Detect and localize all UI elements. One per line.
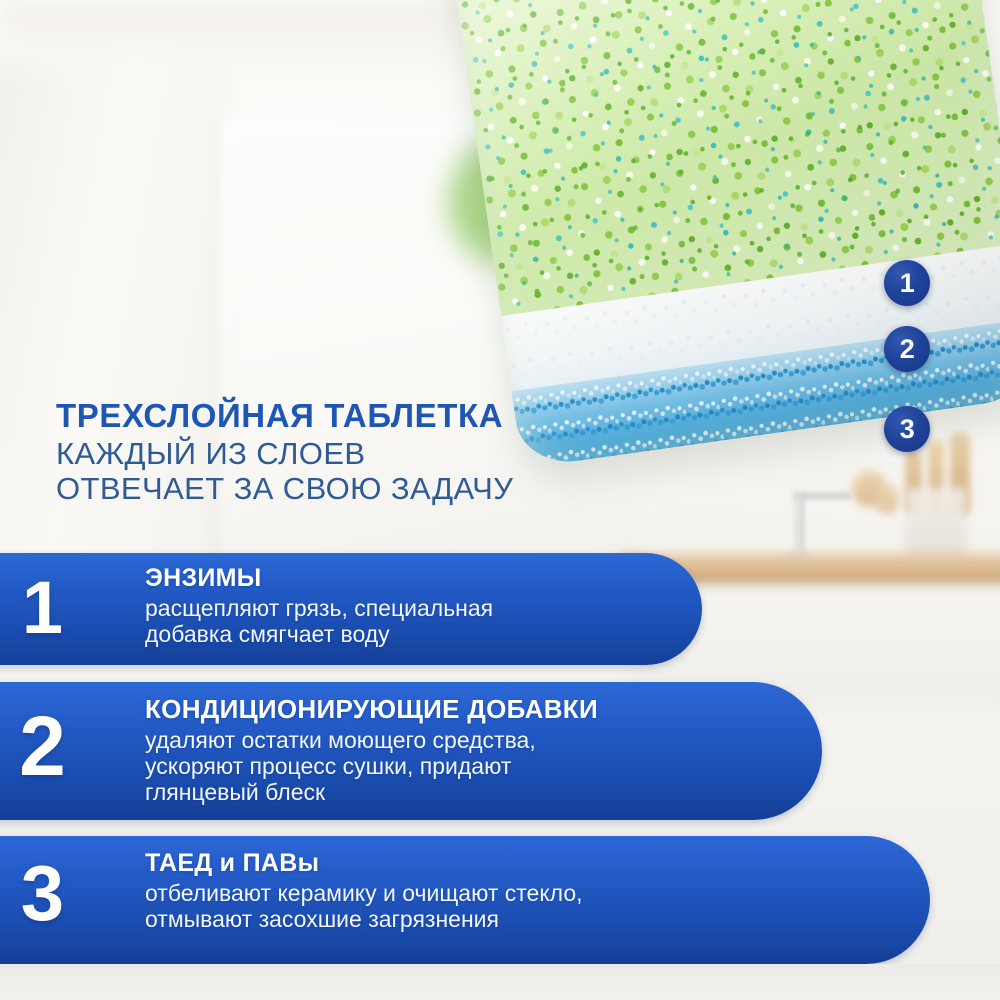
tablet-layer-badge-2: 2	[884, 326, 930, 372]
feature-card-1-description: расщепляют грязь, специальная добавка см…	[145, 595, 676, 647]
tablet-layer-badge-3: 3	[884, 406, 930, 452]
feature-card-2-title: КОНДИЦИОНИРУЮЩИЕ ДОБАВКИ	[145, 696, 796, 724]
feature-card-3-desc-line-1: отбеливают керамику и очищают стекло,	[145, 880, 904, 906]
feature-card-1-desc-line-2: добавка смягчает воду	[145, 621, 676, 647]
feature-card-3-title: ТАЕД и ПАВы	[145, 850, 904, 877]
feature-card-1-number: 1	[0, 571, 145, 645]
utensil-holder	[905, 488, 967, 560]
feature-card-2-body: КОНДИЦИОНИРУЮЩИЕ ДОБАВКИ удаляют остатки…	[145, 696, 822, 805]
feature-card-2-desc-line-1: удаляют остатки моющего средства,	[145, 727, 796, 753]
feature-card-3: 3 ТАЕД и ПАВы отбеливают керамику и очищ…	[0, 836, 930, 964]
feature-card-3-number: 3	[0, 854, 145, 932]
feature-card-1-desc-line-1: расщепляют грязь, специальная	[145, 595, 676, 621]
feature-card-2-description: удаляют остатки моющего средства, ускоря…	[145, 727, 796, 806]
feature-card-1: 1 ЭНЗИМЫ расщепляют грязь, специальная д…	[0, 553, 702, 665]
feature-card-2: 2 КОНДИЦИОНИРУЮЩИЕ ДОБАВКИ удаляют остат…	[0, 682, 822, 820]
headline-secondary-line2: ОТВЕЧАЕТ ЗА СВОЮ ЗАДАЧУ	[56, 471, 696, 506]
feature-card-3-body: ТАЕД и ПАВы отбеливают керамику и очищаю…	[145, 850, 930, 932]
infographic-canvas: 1 2 3 ТРЕХСЛОЙНАЯ ТАБЛЕТКА КАЖДЫЙ ИЗ СЛО…	[0, 0, 1000, 1000]
feature-card-3-description: отбеливают керамику и очищают стекло, от…	[145, 880, 904, 932]
feature-card-3-desc-line-2: отмывают засохшие загрязнения	[145, 906, 904, 932]
bottom-strip	[0, 964, 1000, 1000]
feature-card-2-number: 2	[0, 704, 145, 788]
headline-secondary-line1: КАЖДЫЙ ИЗ СЛОЕВ	[56, 436, 696, 471]
feature-card-1-body: ЭНЗИМЫ расщепляют грязь, специальная доб…	[145, 565, 702, 647]
tablet-layer-badge-1: 1	[884, 260, 930, 306]
feature-card-1-title: ЭНЗИМЫ	[145, 565, 676, 592]
headline-primary: ТРЕХСЛОЙНАЯ ТАБЛЕТКА	[56, 398, 696, 434]
feature-card-2-desc-line-3: глянцевый блеск	[145, 779, 796, 805]
feature-card-2-desc-line-2: ускоряют процесс сушки, придают	[145, 753, 796, 779]
wooden-utensil-ladle	[874, 484, 900, 514]
headline-block: ТРЕХСЛОЙНАЯ ТАБЛЕТКА КАЖДЫЙ ИЗ СЛОЕВ ОТВ…	[56, 398, 696, 506]
